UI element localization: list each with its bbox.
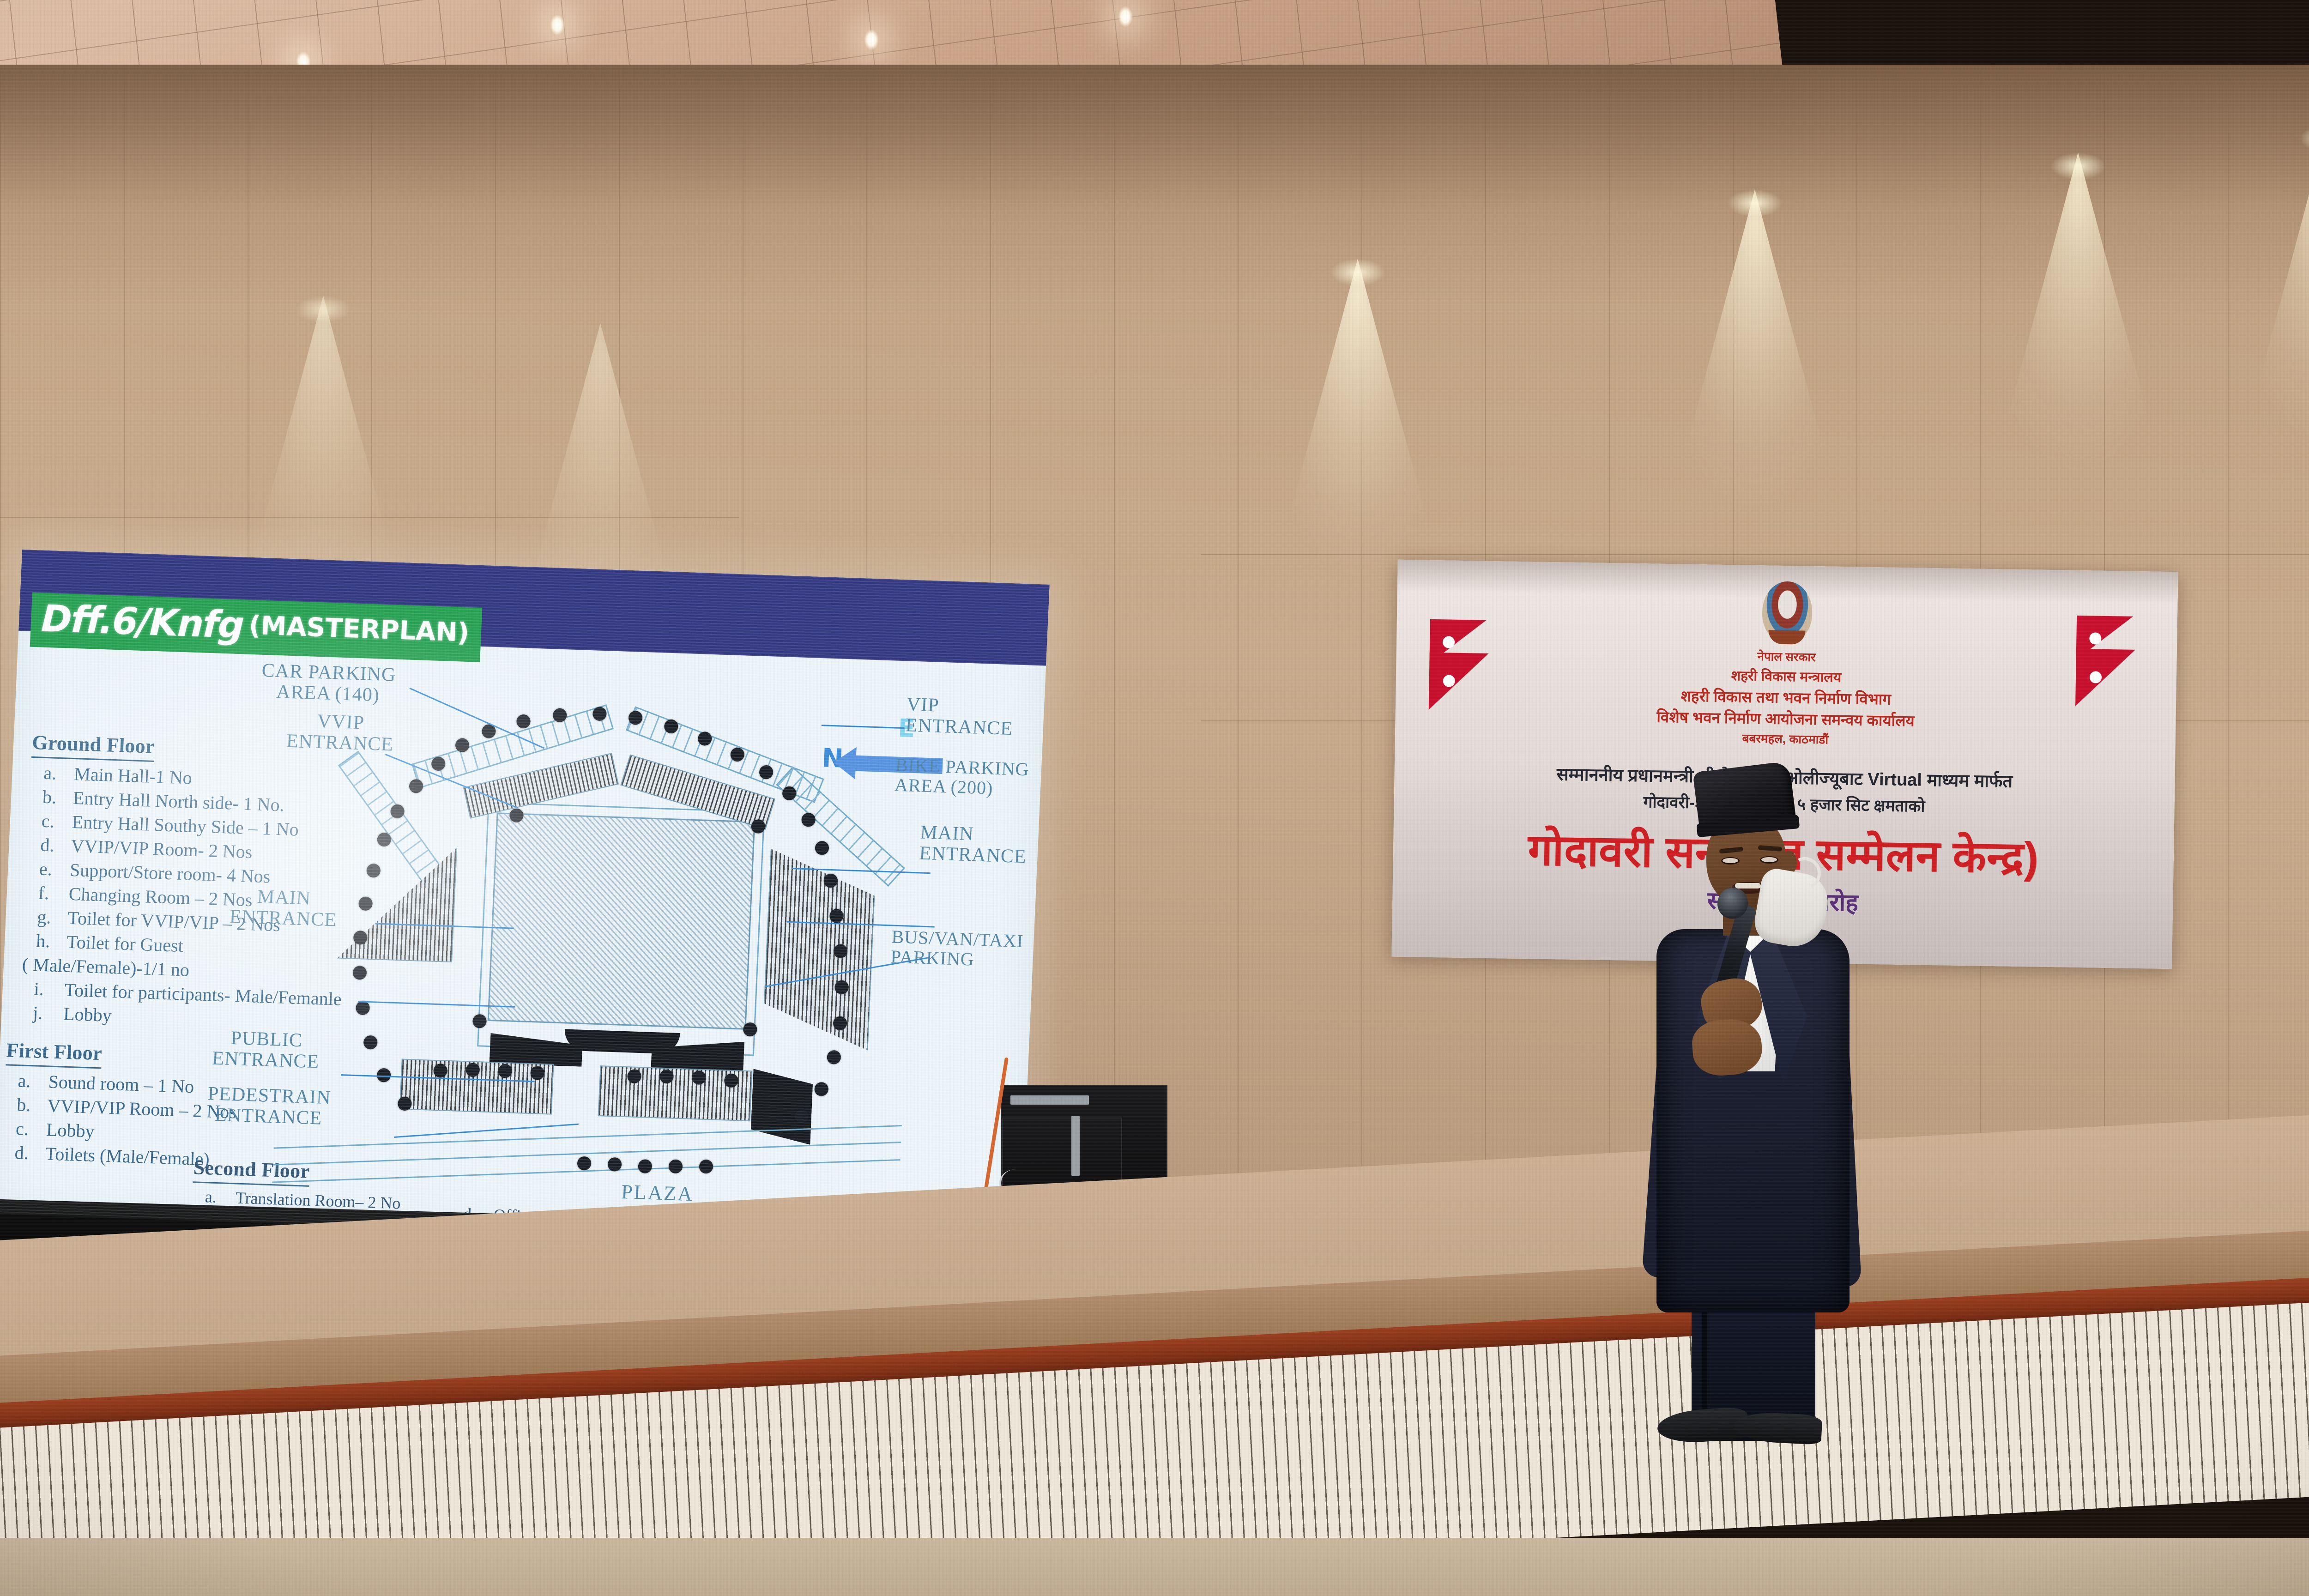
list-marker: b. bbox=[42, 785, 63, 810]
tree-symbol bbox=[516, 714, 531, 729]
slide-title-code: Dff.6/Knfg bbox=[41, 600, 244, 644]
plan-label-line1: VIP bbox=[906, 694, 940, 716]
ceiling-downlight bbox=[1118, 6, 1133, 28]
tree-symbol bbox=[352, 966, 367, 980]
presentation-hall-scene: Dff.6/Knfg (MASTERPLAN) Ground Floor a.M… bbox=[0, 0, 2309, 1596]
tree-symbol bbox=[377, 833, 391, 847]
tree-symbol bbox=[409, 779, 423, 793]
speaker-eye-highlight bbox=[1723, 858, 1738, 863]
projected-slide: Dff.6/Knfg (MASTERPLAN) Ground Floor a.M… bbox=[0, 550, 1050, 1249]
plan-label-car-parking: CAR PARKING AREA (140) bbox=[260, 660, 397, 707]
tree-symbol bbox=[815, 841, 829, 855]
wall-horizontal-seam bbox=[0, 517, 739, 518]
plan-label-line2: ENTRANCE bbox=[214, 1104, 322, 1129]
tree-symbol bbox=[668, 1159, 683, 1173]
dhaka-topi-icon bbox=[1692, 761, 1796, 836]
tree-symbol bbox=[814, 1082, 828, 1096]
plan-label-plaza: PLAZA bbox=[621, 1180, 694, 1206]
plan-label-line2: ENTRANCE bbox=[905, 715, 1013, 740]
callout-leader bbox=[822, 725, 905, 729]
entry-canopy-arc bbox=[564, 1029, 680, 1054]
plan-label-line2: AREA (140) bbox=[276, 681, 380, 706]
speaker-eye-highlight bbox=[1761, 857, 1777, 862]
list-marker: d. bbox=[40, 833, 61, 858]
list-marker: j. bbox=[32, 1001, 54, 1026]
south-mass bbox=[750, 1069, 813, 1144]
plan-label-pedestrian-entrance: PEDESTRAIN ENTRANCE bbox=[206, 1083, 332, 1130]
tree-symbol bbox=[638, 1159, 652, 1173]
list-marker: e. bbox=[39, 857, 60, 882]
section-heading: First Floor bbox=[6, 1037, 103, 1069]
slide-title-suffix: (MASTERPLAN) bbox=[248, 613, 470, 646]
list-marker: c. bbox=[41, 809, 62, 834]
plan-label-line2: ENTRANCE bbox=[919, 843, 1027, 868]
masterplan-site-drawing: E N bbox=[252, 656, 1015, 1226]
wall-wash-source bbox=[296, 296, 351, 323]
plan-label-line2: AREA (200) bbox=[894, 774, 993, 798]
plan-label-line2: ENTRANCE bbox=[212, 1048, 320, 1073]
plan-label-bike-parking: BIKE PARKING AREA (200) bbox=[894, 755, 1029, 799]
ceiling-downlight bbox=[864, 29, 879, 51]
speaker-figure bbox=[1642, 767, 1859, 1450]
speaker-teeth bbox=[1735, 883, 1761, 889]
list-text: Toilet for Guest bbox=[66, 930, 184, 958]
section-heading: Ground Floor bbox=[31, 729, 155, 762]
wall-wash-source bbox=[1727, 189, 1783, 217]
plan-label-main-entrance-right: MAIN ENTRANCE bbox=[919, 822, 1028, 868]
plan-label-main-entrance-left: MAIN ENTRANCE bbox=[229, 886, 338, 931]
plan-label-line2: ENTRANCE bbox=[286, 731, 394, 756]
ceiling-downlight bbox=[550, 14, 565, 36]
list-marker: a. bbox=[18, 1069, 39, 1094]
wall-wash-source bbox=[2050, 152, 2106, 180]
wall-wash-source bbox=[1330, 259, 1385, 286]
plan-label-line1: VVIP bbox=[317, 711, 365, 733]
landscape-band bbox=[337, 843, 457, 962]
list-marker: d. bbox=[14, 1141, 36, 1165]
emblem-base bbox=[1768, 630, 1805, 644]
plan-label-vip-entrance: VIP ENTRANCE bbox=[905, 694, 1014, 740]
building-roof-hatch bbox=[488, 812, 756, 1030]
list-text: Main Hall-1 No bbox=[73, 762, 193, 790]
tree-symbol bbox=[363, 1035, 378, 1050]
landscape-band bbox=[762, 848, 877, 1050]
case-rail bbox=[1010, 1095, 1089, 1105]
government-emblem-icon bbox=[1762, 581, 1813, 643]
tree-symbol bbox=[827, 1050, 841, 1064]
plan-label-line2: PARKING bbox=[890, 946, 975, 970]
tree-symbol bbox=[801, 813, 816, 827]
slide-body: Ground Floor a.Main Hall-1 No b.Entry Ha… bbox=[0, 631, 1046, 1249]
list-text: Lobby bbox=[46, 1118, 95, 1144]
plan-label-public-entrance: PUBLIC ENTRANCE bbox=[212, 1028, 320, 1073]
hall-floor bbox=[0, 1538, 2309, 1596]
wall-horizontal-seam bbox=[1201, 554, 2309, 555]
plan-label-line1: MAIN bbox=[920, 822, 974, 845]
tree-symbol bbox=[356, 1001, 370, 1015]
list-marker: i. bbox=[34, 977, 55, 1002]
plan-label-line2: ENTRANCE bbox=[229, 906, 337, 931]
list-marker: g. bbox=[36, 905, 58, 930]
tree-symbol bbox=[577, 1156, 591, 1171]
callout-leader bbox=[394, 1124, 579, 1138]
list-text: Toilets (Male/Female) bbox=[45, 1142, 210, 1172]
list-marker: a. bbox=[43, 761, 64, 786]
plan-label-line1: PUBLIC bbox=[230, 1028, 303, 1051]
tree-symbol bbox=[699, 1160, 713, 1174]
tree-symbol bbox=[358, 896, 373, 911]
list-marker: f. bbox=[38, 881, 59, 906]
list-marker: c. bbox=[15, 1117, 36, 1141]
list-marker: b. bbox=[16, 1093, 37, 1117]
tree-symbol bbox=[366, 864, 381, 878]
list-text: Lobby bbox=[63, 1002, 112, 1028]
list-marker: h. bbox=[36, 929, 57, 954]
plan-label-vvip-entrance: VVIP ENTRANCE bbox=[286, 710, 395, 756]
projection-screen[interactable]: Dff.6/Knfg (MASTERPLAN) Ground Floor a.M… bbox=[0, 550, 1050, 1249]
plan-label-line1: MAIN bbox=[257, 886, 311, 909]
plan-label-bus-parking: BUS/VAN/TAXI PARKING bbox=[890, 927, 1024, 971]
case-rail bbox=[1071, 1116, 1080, 1176]
tree-symbol bbox=[743, 1022, 757, 1037]
